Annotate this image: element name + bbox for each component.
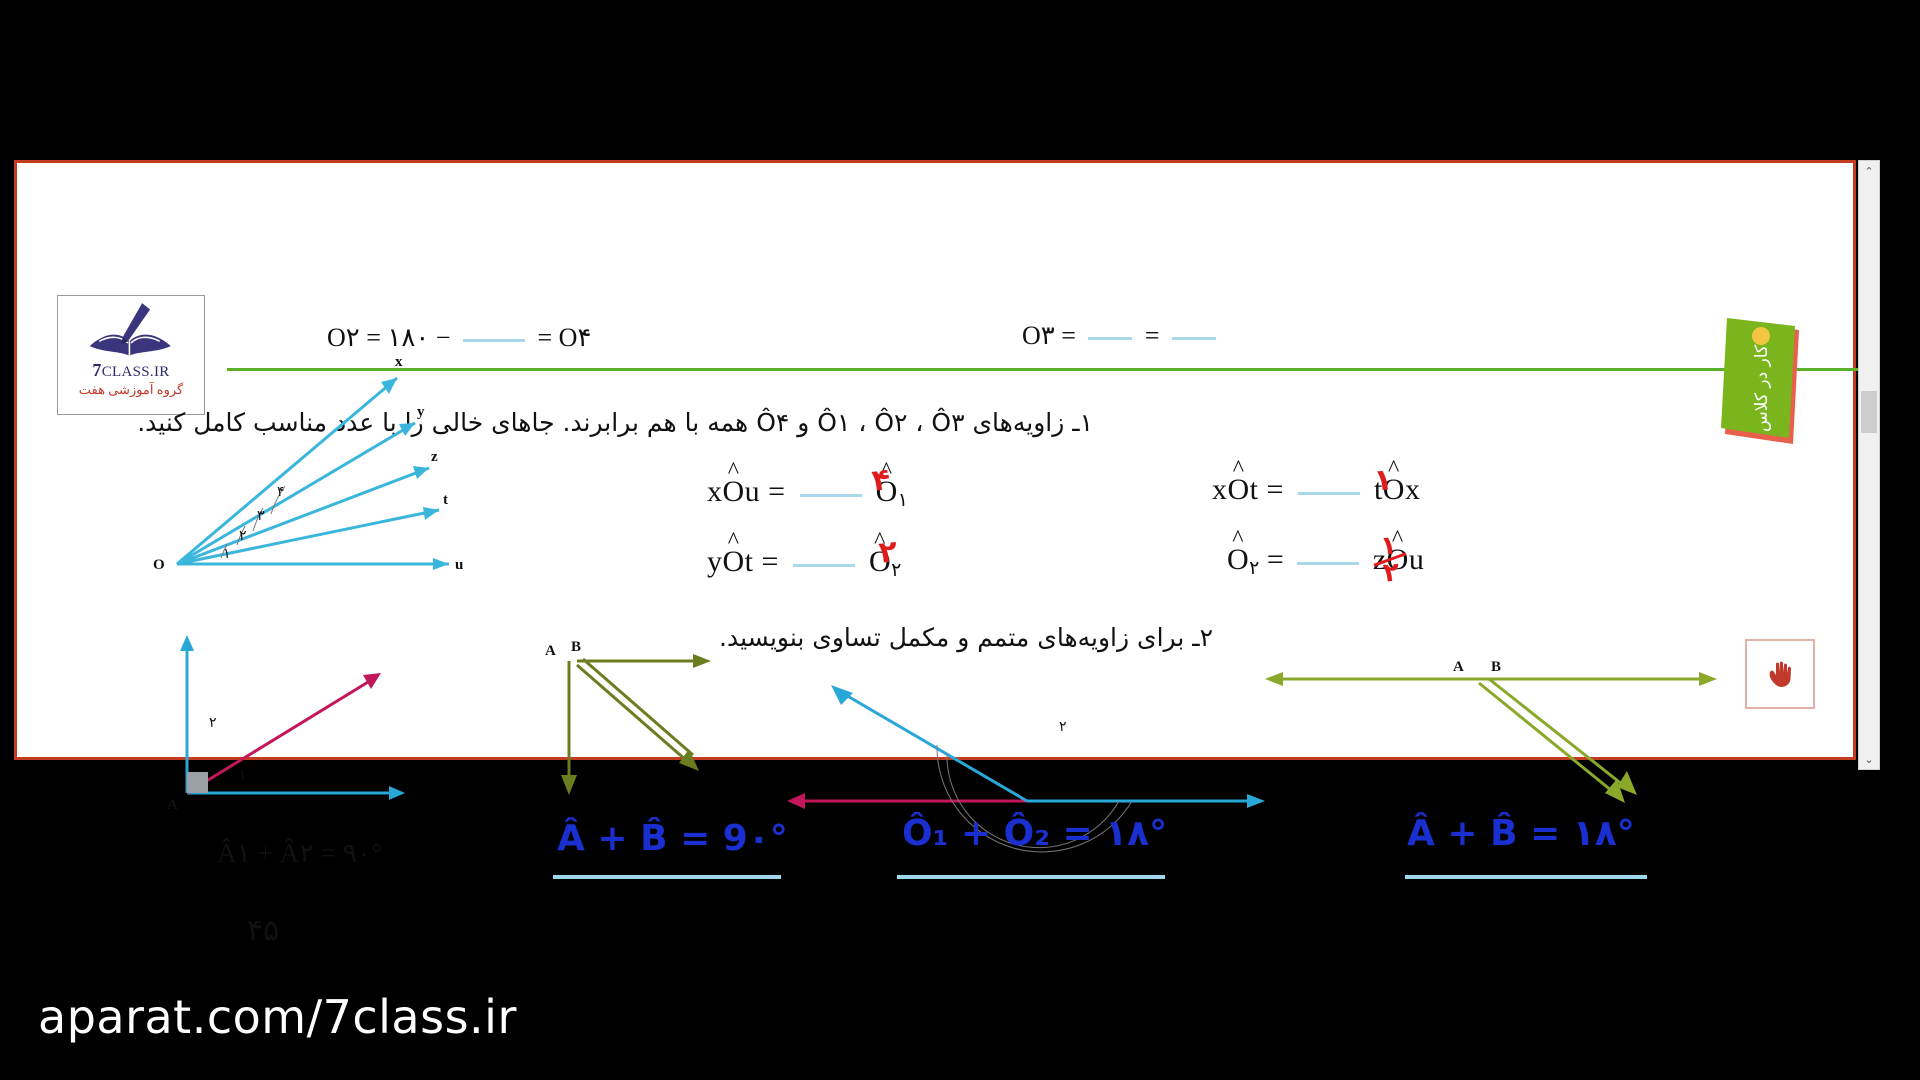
angle-label-3: ۳: [257, 508, 265, 524]
heq-l-value: ۱۸۰: [387, 323, 429, 352]
ray-label-z: z: [431, 449, 438, 465]
brand-rest: CLASS.IR: [102, 364, 170, 380]
right-angle-label-1: ۱: [239, 767, 247, 783]
right-angle-diagram: A ۲ ۱: [157, 633, 437, 813]
eq2-right: t: [745, 545, 754, 578]
angle-label-2: ۲: [239, 528, 247, 544]
scroll-down-button[interactable]: ⌄: [1859, 749, 1879, 769]
watermark-text: aparat.com/7class.ir: [38, 990, 517, 1044]
heq-r-eq2: =: [1145, 321, 1160, 350]
ab-complementary-diagram: A B: [537, 643, 767, 833]
eq3-result-right: x: [1405, 473, 1421, 506]
eq1-blank[interactable]: [800, 494, 862, 497]
answer-ab-complementary: Â + B̂ = 9۰°: [557, 818, 788, 859]
heq-l-minus: −: [436, 323, 451, 352]
hand-cursor-box[interactable]: [1745, 639, 1815, 709]
answer-o-supplementary: Ô₁ + Ô₂ = ۱۸°: [902, 813, 1167, 854]
heq-l-rhs: O۴: [559, 323, 592, 352]
eq4-sub: ۲: [1249, 558, 1259, 579]
o-supplementary-diagram: ۱ ۲: [787, 683, 1267, 833]
open-book-pen-icon: [83, 300, 179, 362]
ray-vertex-label-O: O: [153, 557, 165, 573]
eq2-eq: =: [762, 545, 779, 578]
heq-l-eq: =: [366, 323, 381, 352]
ab2-label-B: B: [1491, 659, 1501, 675]
o-label-1: ۱: [945, 771, 953, 787]
slide-scrollbar[interactable]: ⌃ ⌄: [1858, 160, 1880, 770]
equation-yOt: yOt = O۲: [707, 545, 901, 582]
eq2-blank[interactable]: [793, 564, 855, 567]
eq1-result-sub: ۱: [898, 490, 908, 511]
answer-ab-supplementary: Â + B̂ = ۱۸°: [1407, 813, 1635, 854]
eq2-vertex: O: [723, 545, 745, 579]
scrollbar-thumb[interactable]: [1861, 391, 1877, 433]
ab-label-A: A: [545, 643, 556, 659]
eq3-eq: =: [1267, 473, 1284, 506]
ray-label-y: y: [417, 404, 425, 420]
eq4-blank[interactable]: [1297, 562, 1359, 565]
brand-digit: 7: [92, 360, 101, 380]
angle-label-1: ۱: [223, 546, 231, 562]
ray-fan-diagram: x y z t u O ۴ ۳ ۲ ۱: [167, 368, 587, 598]
right-angle-vertex-A: A: [167, 797, 178, 813]
o-label-2: ۲: [1059, 719, 1067, 735]
answer-underline-3: [1405, 875, 1647, 879]
handwritten-answer-4: ۴: [870, 462, 892, 499]
eq1-eq: =: [768, 475, 785, 508]
heq-l-lhs: O۲: [327, 323, 360, 352]
right-angle-label-2: ۲: [209, 715, 217, 731]
eq1-vertex: O: [723, 475, 745, 509]
eq1-left: x: [707, 475, 723, 508]
heq-r-lhs: O۳: [1022, 321, 1055, 350]
heq-r-blank1[interactable]: [1088, 337, 1132, 340]
ray-label-t: t: [443, 492, 448, 508]
answer-underline-1: [553, 875, 781, 879]
eq3-left: x: [1212, 473, 1228, 506]
slide-canvas: 7CLASS.IR گروه آموزشی هفت O۲ = ۱۸۰ − = O…: [14, 160, 1856, 760]
eq4-eq: =: [1267, 543, 1284, 576]
eq4-left: O: [1227, 543, 1249, 577]
ab2-label-A: A: [1453, 659, 1464, 675]
eq1-right: u: [745, 475, 761, 508]
right-angle-equation: Â۱ + Â۲ = ۹۰°: [217, 838, 382, 869]
heq-l-eq2: =: [538, 323, 553, 352]
eq2-left: y: [707, 545, 723, 578]
ab-label-B: B: [571, 639, 581, 655]
header-equation-right: O۳ = =: [1022, 321, 1222, 351]
hand-icon: [1763, 657, 1797, 691]
eq3-vertex: O: [1228, 473, 1250, 507]
ray-label-x: x: [395, 354, 403, 370]
eq3-right: t: [1250, 473, 1259, 506]
page-number: ۴۵: [247, 913, 279, 948]
brand-name-en: 7CLASS.IR: [92, 360, 169, 381]
heq-r-blank2[interactable]: [1172, 337, 1216, 340]
ray-label-u: u: [455, 557, 463, 573]
video-player-area[interactable]: 7CLASS.IR گروه آموزشی هفت O۲ = ۱۸۰ − = O…: [0, 38, 1880, 910]
handwritten-answer-2: ۲: [877, 534, 899, 571]
eq4-result-right: u: [1409, 543, 1425, 576]
scroll-up-button[interactable]: ⌃: [1859, 161, 1879, 181]
header-equation-left: O۲ = ۱۸۰ − = O۴: [327, 323, 591, 353]
heq-l-blank[interactable]: [463, 339, 525, 342]
video-stage: 7CLASS.IR گروه آموزشی هفت O۲ = ۱۸۰ − = O…: [0, 0, 1920, 1080]
question-2-text: ۲ـ برای زاویه‌های متمم و مکمل تساوی بنوی…: [719, 623, 1213, 652]
class-work-ribbon: کار در کلاس: [1719, 318, 1805, 448]
eq3-blank[interactable]: [1298, 492, 1360, 495]
ribbon-label: کار در کلاس: [1719, 336, 1805, 440]
heq-r-eq: =: [1061, 321, 1076, 350]
handwritten-answer-half: ۱ ۲: [1371, 533, 1410, 585]
answer-underline-2: [897, 875, 1165, 879]
handwritten-answer-1: ۱: [1372, 462, 1394, 499]
angle-label-4: ۴: [277, 484, 285, 500]
